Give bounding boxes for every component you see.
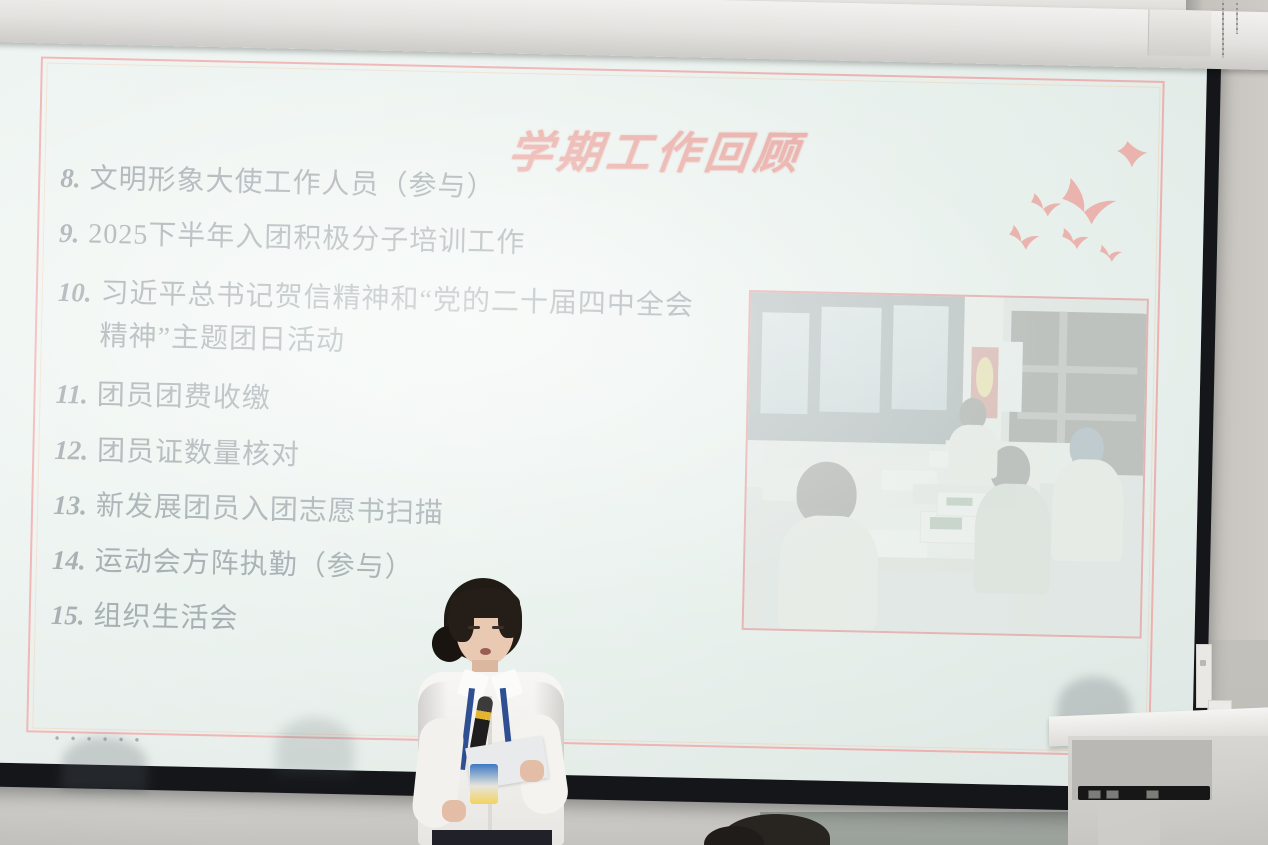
audience-head-shadow xyxy=(61,736,148,792)
list-item-text: 团员团费收缴 xyxy=(96,379,271,417)
presenter-trousers xyxy=(432,830,552,845)
presenter-eye-right xyxy=(492,626,504,629)
list-item-number: 12. xyxy=(54,433,88,467)
list-item: 13. 新发展团员入团志愿书扫描 xyxy=(53,489,734,538)
list-item-text: 组织生活会 xyxy=(93,600,239,637)
screenshot-root: 学期工作回顾 8. 文明形象大使 xyxy=(0,0,1268,845)
list-item-number: 11. xyxy=(55,378,88,412)
list-item-text: 新发展团员入团志愿书扫描 xyxy=(96,490,445,532)
lectern-port-3[interactable] xyxy=(1146,790,1159,799)
slide-photo-content xyxy=(744,292,1147,637)
presenter xyxy=(392,578,592,845)
list-item-number: 10. xyxy=(57,276,91,310)
list-item-text: 团员证数量核对 xyxy=(97,434,301,473)
list-item: 15. 组织生活会 xyxy=(50,599,731,648)
flying-birds-icon xyxy=(997,130,1190,274)
list-item-text: 2025下半年入团积极分子培训工作 xyxy=(88,218,526,262)
pull-chain[interactable] xyxy=(1222,0,1224,58)
list-item: 9. 2025下半年入团积极分子培训工作 xyxy=(59,217,740,266)
presenter-shadow xyxy=(275,717,354,777)
presenter-mouth xyxy=(480,648,491,655)
list-item: 12. 团员证数量核对 xyxy=(54,433,735,482)
list-item-text: 习近平总书记贺信精神和“党的二十届四中全会精神”主题团日活动 xyxy=(99,273,721,372)
presenter-hand-left xyxy=(442,800,466,822)
list-item: 11. 团员团费收缴 xyxy=(55,378,736,427)
wall-fixture-indicator xyxy=(1200,660,1206,666)
pull-chain-secondary[interactable] xyxy=(1236,0,1238,34)
presenter-hand-right xyxy=(520,760,544,782)
list-item-number: 8. xyxy=(60,162,81,195)
list-item-text: 运动会方阵执勤（参与） xyxy=(94,545,414,586)
slide-photo xyxy=(742,290,1149,639)
lectern-port-1[interactable] xyxy=(1088,790,1101,799)
list-item-number: 9. xyxy=(59,217,80,250)
list-item: 10. 习近平总书记贺信精神和“党的二十届四中全会精神”主题团日活动 xyxy=(56,272,738,372)
presenter-eye-left xyxy=(468,626,480,629)
screen-roller-cap xyxy=(1148,9,1212,56)
list-item-number: 15. xyxy=(50,599,84,633)
lectern-port-2[interactable] xyxy=(1106,790,1119,799)
presenter-fringe-left xyxy=(448,592,474,642)
list-item-number: 13. xyxy=(53,489,87,523)
lectern-leg xyxy=(1098,800,1160,845)
id-badge xyxy=(470,764,498,804)
projection-screen-surface: 学期工作回顾 8. 文明形象大使 xyxy=(0,20,1207,788)
presenter-fringe-right xyxy=(498,592,522,638)
list-item-number: 14. xyxy=(52,544,86,578)
wall-mounted-fixture xyxy=(1196,644,1212,708)
projection-screen-frame: 学期工作回顾 8. 文明形象大使 xyxy=(0,8,1222,813)
